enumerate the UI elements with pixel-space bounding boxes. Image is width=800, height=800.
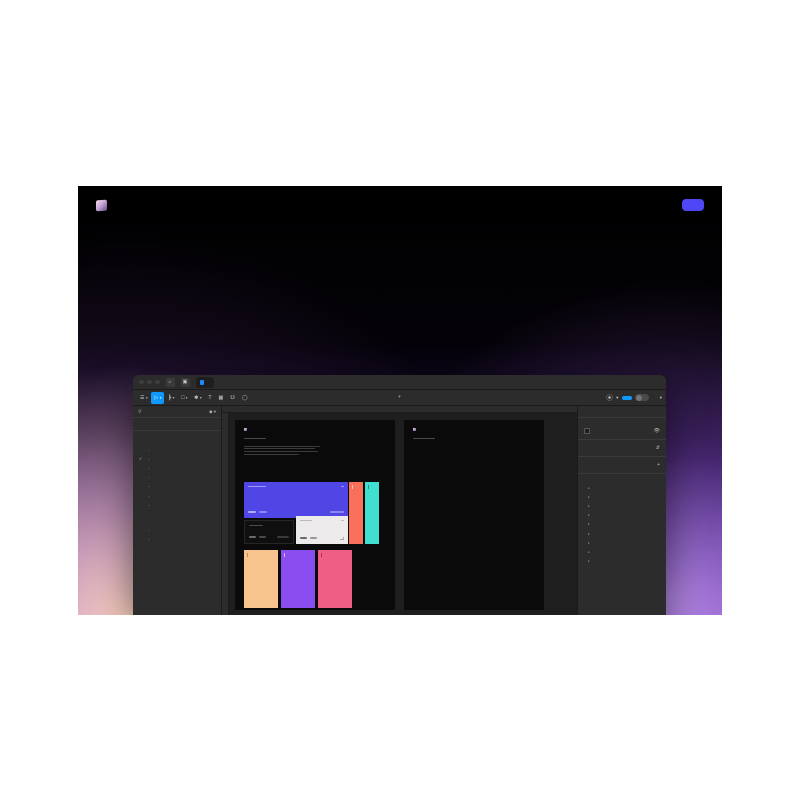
text-style-heading-xl[interactable]: ▸: [584, 547, 660, 556]
page-group-basic-components: [133, 552, 221, 560]
swatch-card-light: [296, 516, 348, 544]
comment-tool[interactable]: ◯: [239, 392, 251, 404]
add-style-icon[interactable]: +: [657, 462, 660, 468]
page-item-type[interactable]: →: [133, 463, 221, 472]
text-style-banner-m[interactable]: ▸: [584, 492, 660, 501]
page-item-logo[interactable]: →: [133, 445, 221, 454]
frame-body-color-wiki: [235, 420, 395, 610]
text-style-display-xl[interactable]: ▸: [584, 511, 660, 520]
frame-eyebrow: [413, 438, 435, 439]
pen-tool[interactable]: ✽▾: [191, 392, 204, 404]
text-style-display-small[interactable]: ▸: [584, 538, 660, 547]
shape-tool[interactable]: □▾: [178, 392, 190, 404]
local-styles-row[interactable]: +: [578, 457, 666, 474]
zoom-chevron-down-icon[interactable]: ▾: [660, 395, 662, 401]
page-group-core: [133, 437, 221, 445]
swatch-card-dark: [244, 520, 294, 544]
dev-mode-toggle[interactable]: [635, 394, 649, 402]
text-tool[interactable]: T: [205, 392, 214, 404]
move-tool[interactable]: ▷▾: [151, 392, 164, 404]
swatch-card-coral: [349, 482, 363, 544]
cube-logo-icon: [96, 199, 107, 211]
pages-header: [133, 418, 221, 431]
page-root: ⌂ ▣ ☰▾ ▷▾ ┣▾ □▾ ✽▾ T ▦ ☋ ◯: [0, 0, 800, 800]
design-panel-tabs: [578, 406, 666, 418]
page-item-brand-book[interactable]: →: [133, 535, 221, 544]
swatch-card-primary: [244, 482, 348, 518]
text-style-display-large[interactable]: ▸: [584, 520, 660, 529]
search-icon[interactable]: ⚲: [138, 409, 142, 415]
minimize-window-icon[interactable]: [147, 380, 152, 385]
horizontal-ruler: [222, 406, 577, 413]
design-panel: 👁 ⇵ + ▸ ▸ ▸: [577, 406, 666, 615]
file-tab[interactable]: [196, 377, 214, 388]
toolbar-right-group: ▾ ▾: [606, 394, 662, 402]
breadcrumb-chevron-down-icon[interactable]: ▾: [398, 395, 400, 400]
page-item-icons[interactable]: →: [133, 473, 221, 482]
cube-logo-icon: [413, 428, 416, 431]
color-filter-button[interactable]: ◆ ▾: [209, 409, 216, 415]
page-item-shadow-blur[interactable]: →: [133, 500, 221, 509]
text-style-display-xxl[interactable]: ▸: [584, 501, 660, 510]
figma-tab-strip: ⌂ ▣: [133, 375, 666, 390]
page-settings-section: 👁: [578, 418, 666, 440]
selected-check-icon: ✓: [139, 456, 142, 461]
frame-logo: [244, 428, 395, 431]
avatar-chevron-down-icon[interactable]: ▾: [616, 395, 618, 401]
text-styles-list: ▸ ▸ ▸ ▸ ▸ ▸ ▸ ▸ ▸: [578, 474, 666, 566]
text-style-heading-large[interactable]: ▸: [584, 557, 660, 566]
page-item-brand-wiki[interactable]: →: [133, 525, 221, 534]
frame-body-color-primary: [404, 420, 544, 610]
page-item-grids-spacing[interactable]: →: [133, 491, 221, 500]
figma-body: ⚲ ◆ ▾ → ✓→ → → →: [133, 406, 666, 615]
close-window-icon[interactable]: [139, 380, 144, 385]
visibility-eye-icon[interactable]: 👁: [654, 428, 660, 434]
frame-tool[interactable]: ┣▾: [165, 392, 177, 404]
vertical-ruler: [222, 413, 229, 615]
frame-color-primary[interactable]: [404, 418, 544, 610]
components-tool[interactable]: ▦: [216, 392, 227, 404]
page-background-row: 👁: [584, 428, 660, 434]
pages-list: → ✓→ → → → → → → →: [133, 431, 221, 560]
cube-logo-icon: [244, 428, 247, 431]
page-item-color[interactable]: ✓→: [133, 454, 221, 463]
figma-toolbar: ☰▾ ▷▾ ┣▾ □▾ ✽▾ T ▦ ☋ ◯ ▾ ▾: [133, 390, 666, 406]
layers-panel-tabs: ⚲ ◆ ▾: [133, 406, 221, 418]
local-variables-row[interactable]: ⇵: [578, 440, 666, 457]
frame-body-text: [244, 446, 320, 455]
text-style-banner-l[interactable]: ▸: [584, 483, 660, 492]
card-peach: [244, 550, 278, 608]
page-color-chip[interactable]: [584, 428, 590, 434]
window-traffic-lights[interactable]: [139, 380, 160, 385]
card-purple: [281, 550, 315, 608]
share-button[interactable]: [622, 396, 632, 400]
layers-panel: ⚲ ◆ ▾ → ✓→ → → →: [133, 406, 222, 615]
frame-logo: [413, 428, 544, 431]
brand-logo[interactable]: [96, 200, 112, 211]
figma-app-window: ⌂ ▣ ☰▾ ▷▾ ┣▾ □▾ ✽▾ T ▦ ☋ ◯: [133, 375, 666, 615]
text-style-display-medium[interactable]: ▸: [584, 529, 660, 538]
card-pink: [318, 550, 352, 608]
figma-canvas[interactable]: [222, 406, 577, 615]
home-icon[interactable]: ⌂: [166, 378, 175, 387]
page-group-brand-guidelines: [133, 517, 221, 525]
figma-file-icon: [200, 380, 204, 385]
canvas-viewport: [229, 413, 577, 615]
open-variables-icon[interactable]: ⇵: [656, 445, 660, 451]
frame-color-wiki[interactable]: [235, 418, 395, 610]
swatch-card-turquoise: [365, 482, 379, 544]
maximize-window-icon[interactable]: [155, 380, 160, 385]
built-for-figma-button[interactable]: [682, 199, 704, 211]
frame-eyebrow: [244, 438, 266, 439]
stamp-tool[interactable]: ☋: [227, 392, 238, 404]
hero-section: ⌂ ▣ ☰▾ ▷▾ ┣▾ □▾ ✽▾ T ▦ ☋ ◯: [78, 186, 722, 615]
recents-icon[interactable]: ▣: [181, 378, 190, 387]
main-menu-tool[interactable]: ☰▾: [137, 392, 150, 404]
top-navbar: [78, 186, 722, 224]
page-item-imagery[interactable]: →: [133, 482, 221, 491]
avatar[interactable]: [606, 394, 613, 401]
